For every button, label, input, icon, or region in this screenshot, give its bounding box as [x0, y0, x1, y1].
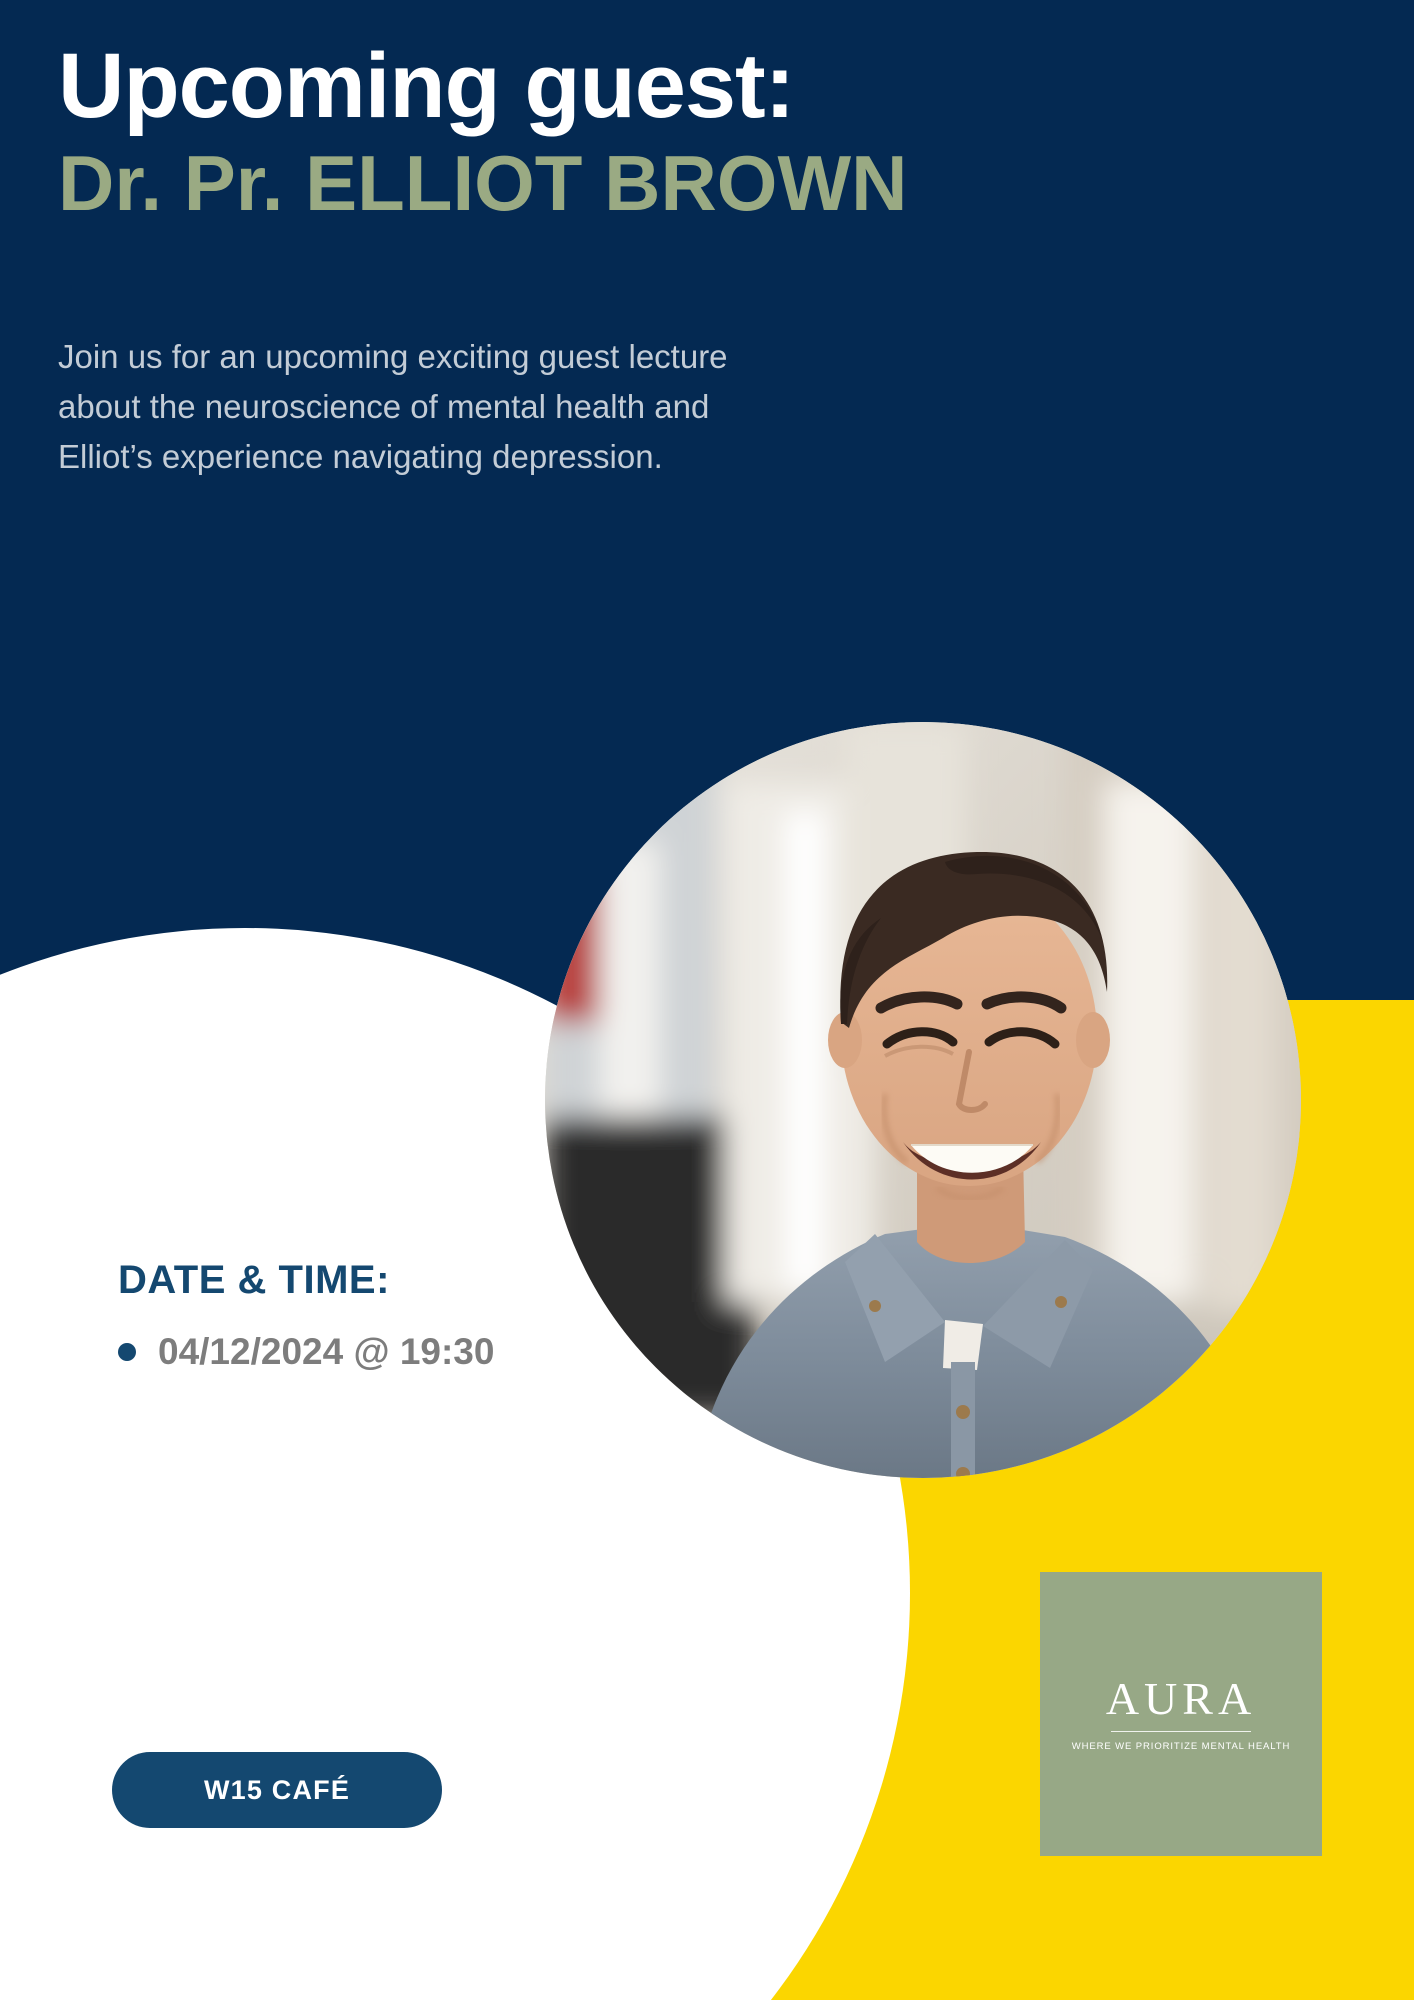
intro-paragraph: Join us for an upcoming exciting guest l…	[58, 332, 738, 482]
aura-logo-card: AURA WHERE WE PRIORITIZE MENTAL HEALTH	[1040, 1572, 1322, 1856]
guest-portrait-photo	[545, 722, 1301, 1478]
date-time-heading: DATE & TIME:	[118, 1258, 638, 1303]
headline-guest-name: Dr. Pr. ELLIOT BROWN	[58, 141, 1158, 225]
date-time-section: DATE & TIME: 04/12/2024 @ 19:30	[118, 1258, 638, 1373]
bullet-dot-icon	[118, 1343, 136, 1361]
list-item: 04/12/2024 @ 19:30	[118, 1331, 638, 1373]
poster-headline: Upcoming guest: Dr. Pr. ELLIOT BROWN	[58, 38, 1158, 225]
aura-wordmark: AURA	[1106, 1676, 1256, 1722]
date-time-list: 04/12/2024 @ 19:30	[118, 1331, 638, 1373]
headline-primary: Upcoming guest:	[58, 38, 1158, 135]
venue-button[interactable]: W15 CAFÉ	[112, 1752, 442, 1828]
aura-tagline: WHERE WE PRIORITIZE MENTAL HEALTH	[1072, 1741, 1290, 1752]
event-poster: Upcoming guest: Dr. Pr. ELLIOT BROWN Joi…	[0, 0, 1414, 2000]
portrait-illustration	[545, 722, 1301, 1478]
date-time-value: 04/12/2024 @ 19:30	[158, 1331, 494, 1373]
logo-divider	[1111, 1731, 1251, 1732]
